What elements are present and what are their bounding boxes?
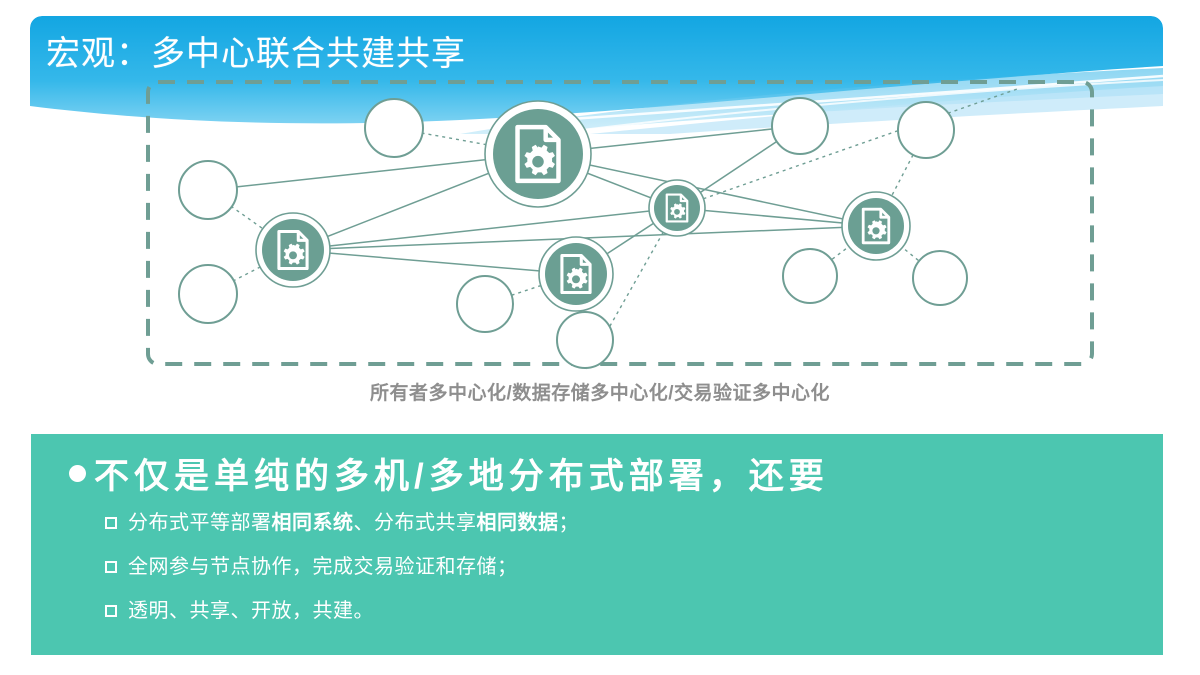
list-item-text: 透明、共享、开放，共建。 bbox=[128, 598, 374, 624]
hub-node-left[interactable] bbox=[256, 213, 330, 287]
green-panel-list: 分布式平等部署相同系统、分布式共享相同数据； 全网参与节点协作，完成交易验证和存… bbox=[105, 510, 1143, 642]
peer-node[interactable] bbox=[557, 312, 613, 368]
square-bullet-icon bbox=[105, 605, 117, 617]
diagram-canvas bbox=[140, 78, 1100, 370]
peer-node[interactable] bbox=[179, 161, 237, 219]
list-item-pre: 透明、共享、开放，共建。 bbox=[128, 600, 374, 622]
list-item: 全网参与节点协作，完成交易验证和存储； bbox=[105, 554, 1143, 580]
green-panel-heading-text: 不仅是单纯的多机/多地分布式部署，还要 bbox=[94, 448, 829, 499]
list-item-pre: 分布式平等部署 bbox=[128, 512, 272, 534]
network-diagram bbox=[140, 78, 1100, 370]
hub-node-small[interactable] bbox=[649, 180, 705, 236]
square-bullet-icon bbox=[105, 561, 117, 573]
peer-node[interactable] bbox=[913, 251, 967, 305]
list-item-text: 分布式平等部署相同系统、分布式共享相同数据； bbox=[128, 510, 579, 536]
slide-root: 宏观：多中心联合共建共享 bbox=[0, 0, 1200, 675]
green-panel: 不仅是单纯的多机/多地分布式部署，还要 分布式平等部署相同系统、分布式共享相同数… bbox=[31, 434, 1163, 655]
list-item: 分布式平等部署相同系统、分布式共享相同数据； bbox=[105, 510, 1143, 536]
peer-node[interactable] bbox=[772, 98, 828, 154]
peer-node[interactable] bbox=[365, 99, 423, 157]
peer-node[interactable] bbox=[179, 265, 237, 323]
hub-node-top[interactable] bbox=[485, 101, 591, 207]
hub-node-right[interactable] bbox=[842, 192, 910, 260]
list-item-bold1: 相同系统 bbox=[272, 512, 354, 534]
list-item-pre: 全网参与节点协作，完成交易验证和存储； bbox=[128, 556, 518, 578]
list-item: 透明、共享、开放，共建。 bbox=[105, 598, 1143, 624]
diagram-caption: 所有者多中心化/数据存储多中心化/交易验证多中心化 bbox=[0, 378, 1200, 405]
hub-node-mid[interactable] bbox=[539, 237, 613, 311]
list-item-mid: 、分布式共享 bbox=[354, 512, 477, 534]
list-item-post: ； bbox=[559, 512, 580, 534]
peer-node[interactable] bbox=[898, 102, 954, 158]
green-panel-heading: 不仅是单纯的多机/多地分布式部署，还要 bbox=[69, 448, 1143, 499]
list-item-text: 全网参与节点协作，完成交易验证和存储； bbox=[128, 554, 518, 580]
bullet-dot-icon bbox=[69, 465, 86, 482]
page-title: 宏观：多中心联合共建共享 bbox=[46, 26, 466, 75]
peer-node[interactable] bbox=[457, 276, 513, 332]
list-item-bold2: 相同数据 bbox=[477, 512, 559, 534]
peer-node[interactable] bbox=[783, 249, 837, 303]
square-bullet-icon bbox=[105, 517, 117, 529]
